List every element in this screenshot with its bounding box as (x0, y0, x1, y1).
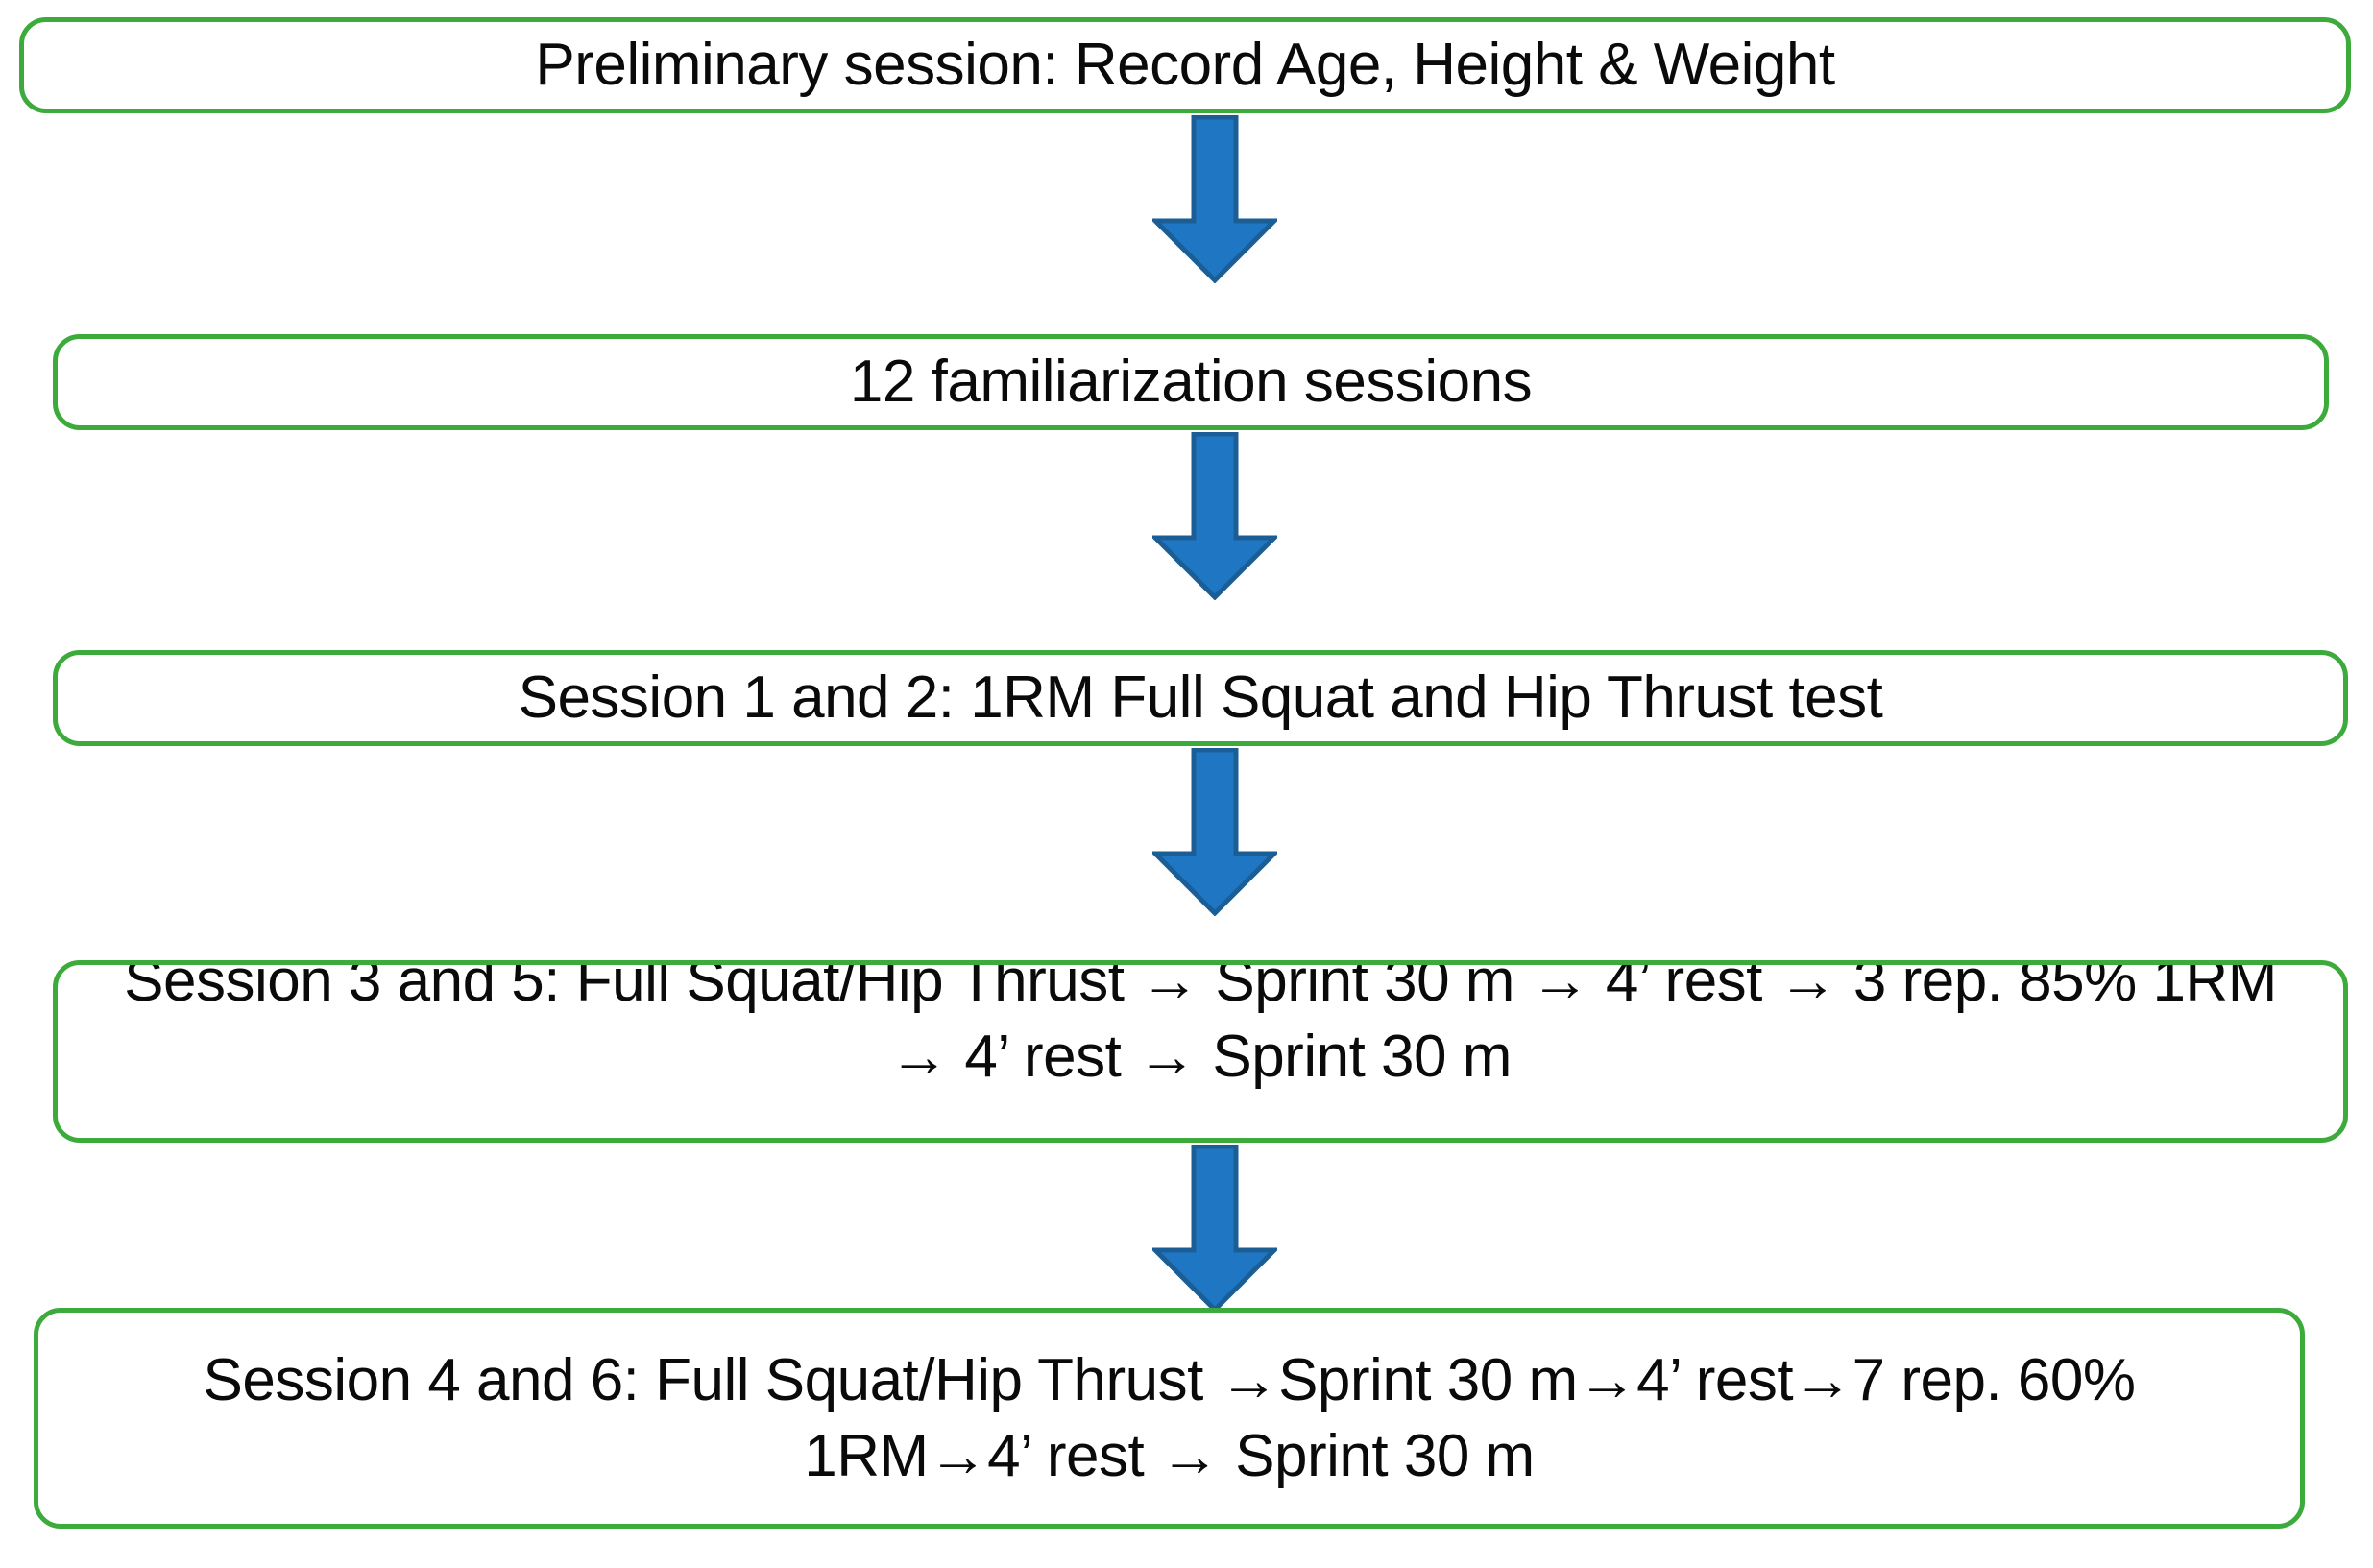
flowchart-node-session-1-and-2: Session 1 and 2: 1RM Full Squat and Hip … (53, 650, 2348, 746)
flowchart-node-familiarization-sessions: 12 familiarization sessions (53, 334, 2329, 430)
flowchart-node-session-3-and-5: Session 3 and 5: Full Squat/Hip Thrust →… (53, 960, 2348, 1143)
down-arrow-icon (1152, 1145, 1277, 1313)
flowchart-node-session-4-and-6: Session 4 and 6: Full Squat/Hip Thrust →… (34, 1308, 2305, 1529)
flowchart-canvas: Preliminary session: Record Age, Height … (0, 0, 2373, 1568)
node-label: Session 4 and 6: Full Squat/Hip Thrust →… (38, 1342, 2300, 1495)
node-label: 12 familiarization sessions (58, 344, 2324, 420)
down-arrow-icon (1152, 748, 1277, 916)
down-arrow-icon (1152, 115, 1277, 283)
node-label: Session 1 and 2: 1RM Full Squat and Hip … (58, 660, 2343, 736)
node-label: Session 3 and 5: Full Squat/Hip Thrust →… (58, 960, 2343, 1095)
node-label: Preliminary session: Record Age, Height … (24, 27, 2346, 103)
down-arrow-icon (1152, 432, 1277, 600)
flowchart-node-preliminary-session: Preliminary session: Record Age, Height … (19, 17, 2351, 113)
